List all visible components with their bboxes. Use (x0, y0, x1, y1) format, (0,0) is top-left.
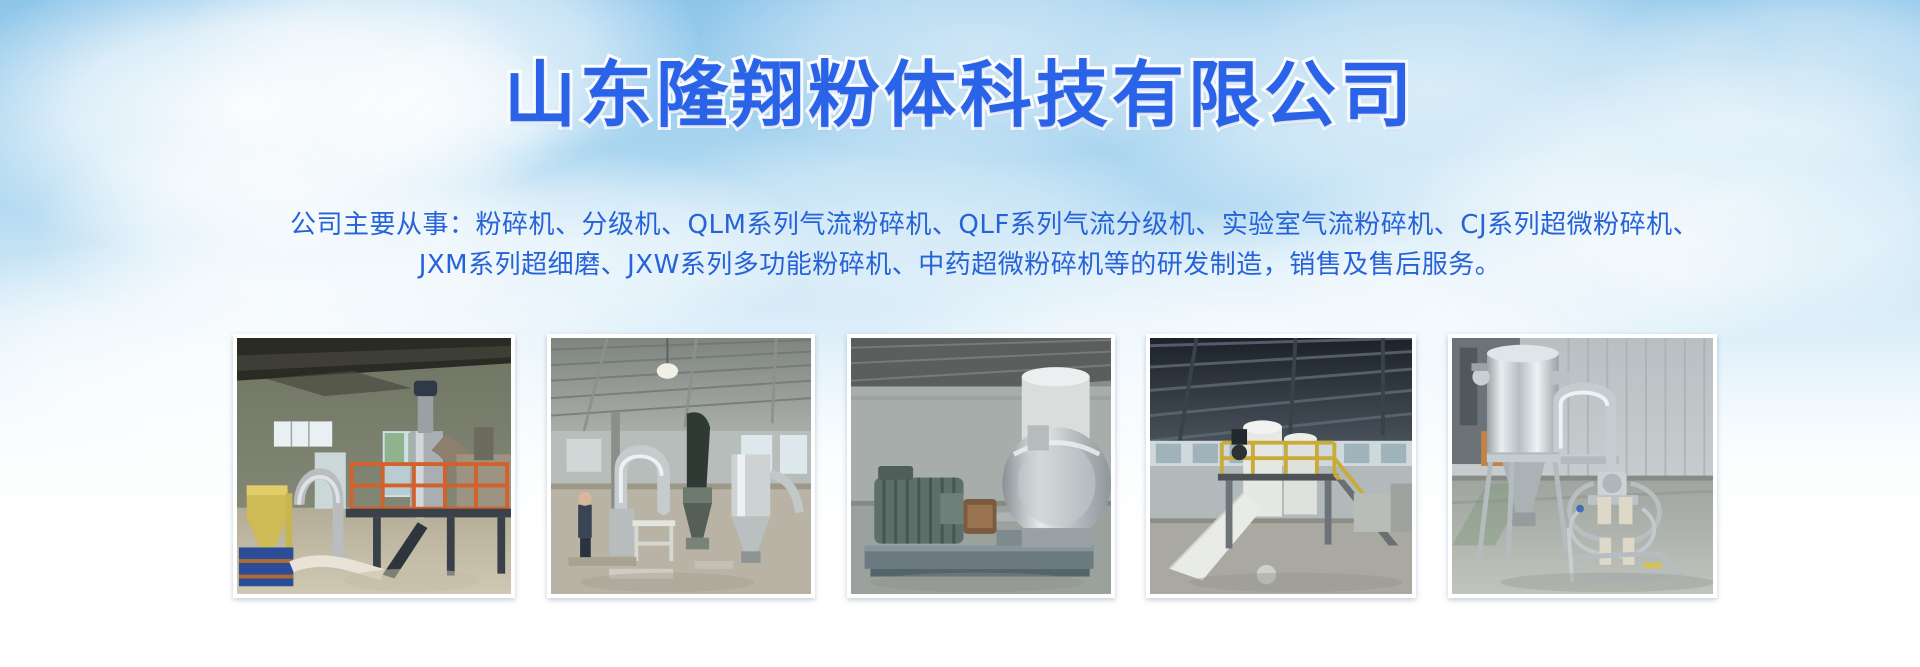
company-name-heading: 山东隆翔粉体科技有限公司 (504, 58, 1416, 134)
page-title: 山东隆翔粉体科技有限公司 (0, 58, 1920, 134)
gallery-photo-3[interactable] (847, 334, 1115, 598)
gallery-photo-2[interactable] (547, 334, 815, 598)
gallery-photo-1[interactable] (233, 334, 515, 598)
stainless-lab-jet-mill-photo (1452, 338, 1713, 594)
workshop-airflow-mill-photo (237, 338, 511, 594)
product-photo-gallery (233, 334, 1717, 598)
company-description: 公司主要从事：粉碎机、分级机、QLM系列气流粉碎机、QLF系列气流分级机、实验室… (290, 205, 1630, 286)
motor-classifier-photo (851, 338, 1111, 594)
company-banner: 山东隆翔粉体科技有限公司 公司主要从事：粉碎机、分级机、QLM系列气流粉碎机、Q… (0, 0, 1920, 667)
gallery-photo-4[interactable] (1146, 334, 1416, 598)
workshop-pipework-photo (551, 338, 811, 594)
company-description-line-1: 公司主要从事：粉碎机、分级机、QLM系列气流粉碎机、QLF系列气流分级机、实验室… (290, 205, 1630, 245)
gallery-photo-5[interactable] (1448, 334, 1717, 598)
workshop-silo-stairs-photo (1150, 338, 1412, 594)
company-description-line-2: JXM系列超细磨、JXW系列多功能粉碎机、中药超微粉碎机等的研发制造，销售及售后… (290, 245, 1630, 285)
